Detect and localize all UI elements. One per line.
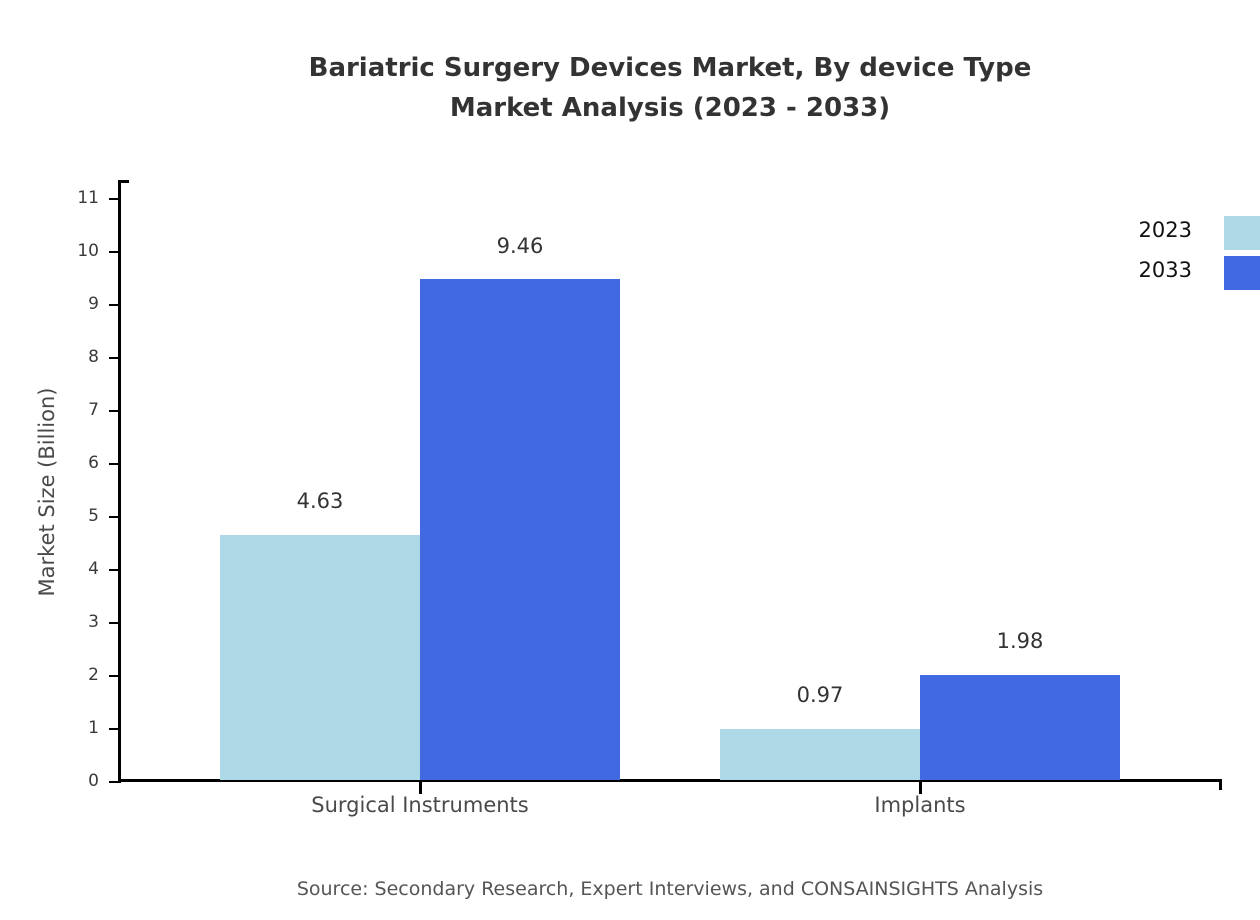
bar-surgical-instruments-2023[interactable] (220, 535, 420, 780)
chart-title: Bariatric Surgery Devices Market, By dev… (0, 48, 1260, 128)
chart-title-line-2: Market Analysis (2023 - 2033) (0, 88, 1260, 128)
x-axis-end-cap (1219, 779, 1222, 790)
legend-label-2033: 2033 (1139, 258, 1192, 282)
x-tick-label-surgical-instruments: Surgical Instruments (210, 793, 630, 817)
legend-swatch-2023 (1224, 216, 1260, 250)
legend: 2023 2033 (1060, 212, 1260, 292)
bar-value-implants-2023: 0.97 (720, 683, 920, 707)
bar-implants-2033[interactable] (920, 675, 1120, 780)
bar-surgical-instruments-2033[interactable] (420, 279, 620, 780)
legend-item-2033[interactable]: 2033 (1060, 252, 1260, 292)
bar-implants-2023[interactable] (720, 729, 920, 780)
legend-label-2023: 2023 (1139, 218, 1192, 242)
bar-value-surgical-instruments-2033: 9.46 (420, 234, 620, 258)
y-tick-0 (109, 781, 121, 783)
chart-title-line-1: Bariatric Surgery Devices Market, By dev… (0, 48, 1260, 88)
source-note: Source: Secondary Research, Expert Inter… (0, 878, 1260, 900)
legend-item-2023[interactable]: 2023 (1060, 212, 1260, 252)
bar-value-implants-2033: 1.98 (920, 629, 1120, 653)
legend-swatch-2033 (1224, 256, 1260, 290)
bar-value-surgical-instruments-2023: 4.63 (220, 489, 420, 513)
bar-chart: Bariatric Surgery Devices Market, By dev… (0, 0, 1260, 920)
x-tick-label-implants: Implants (710, 793, 1130, 817)
